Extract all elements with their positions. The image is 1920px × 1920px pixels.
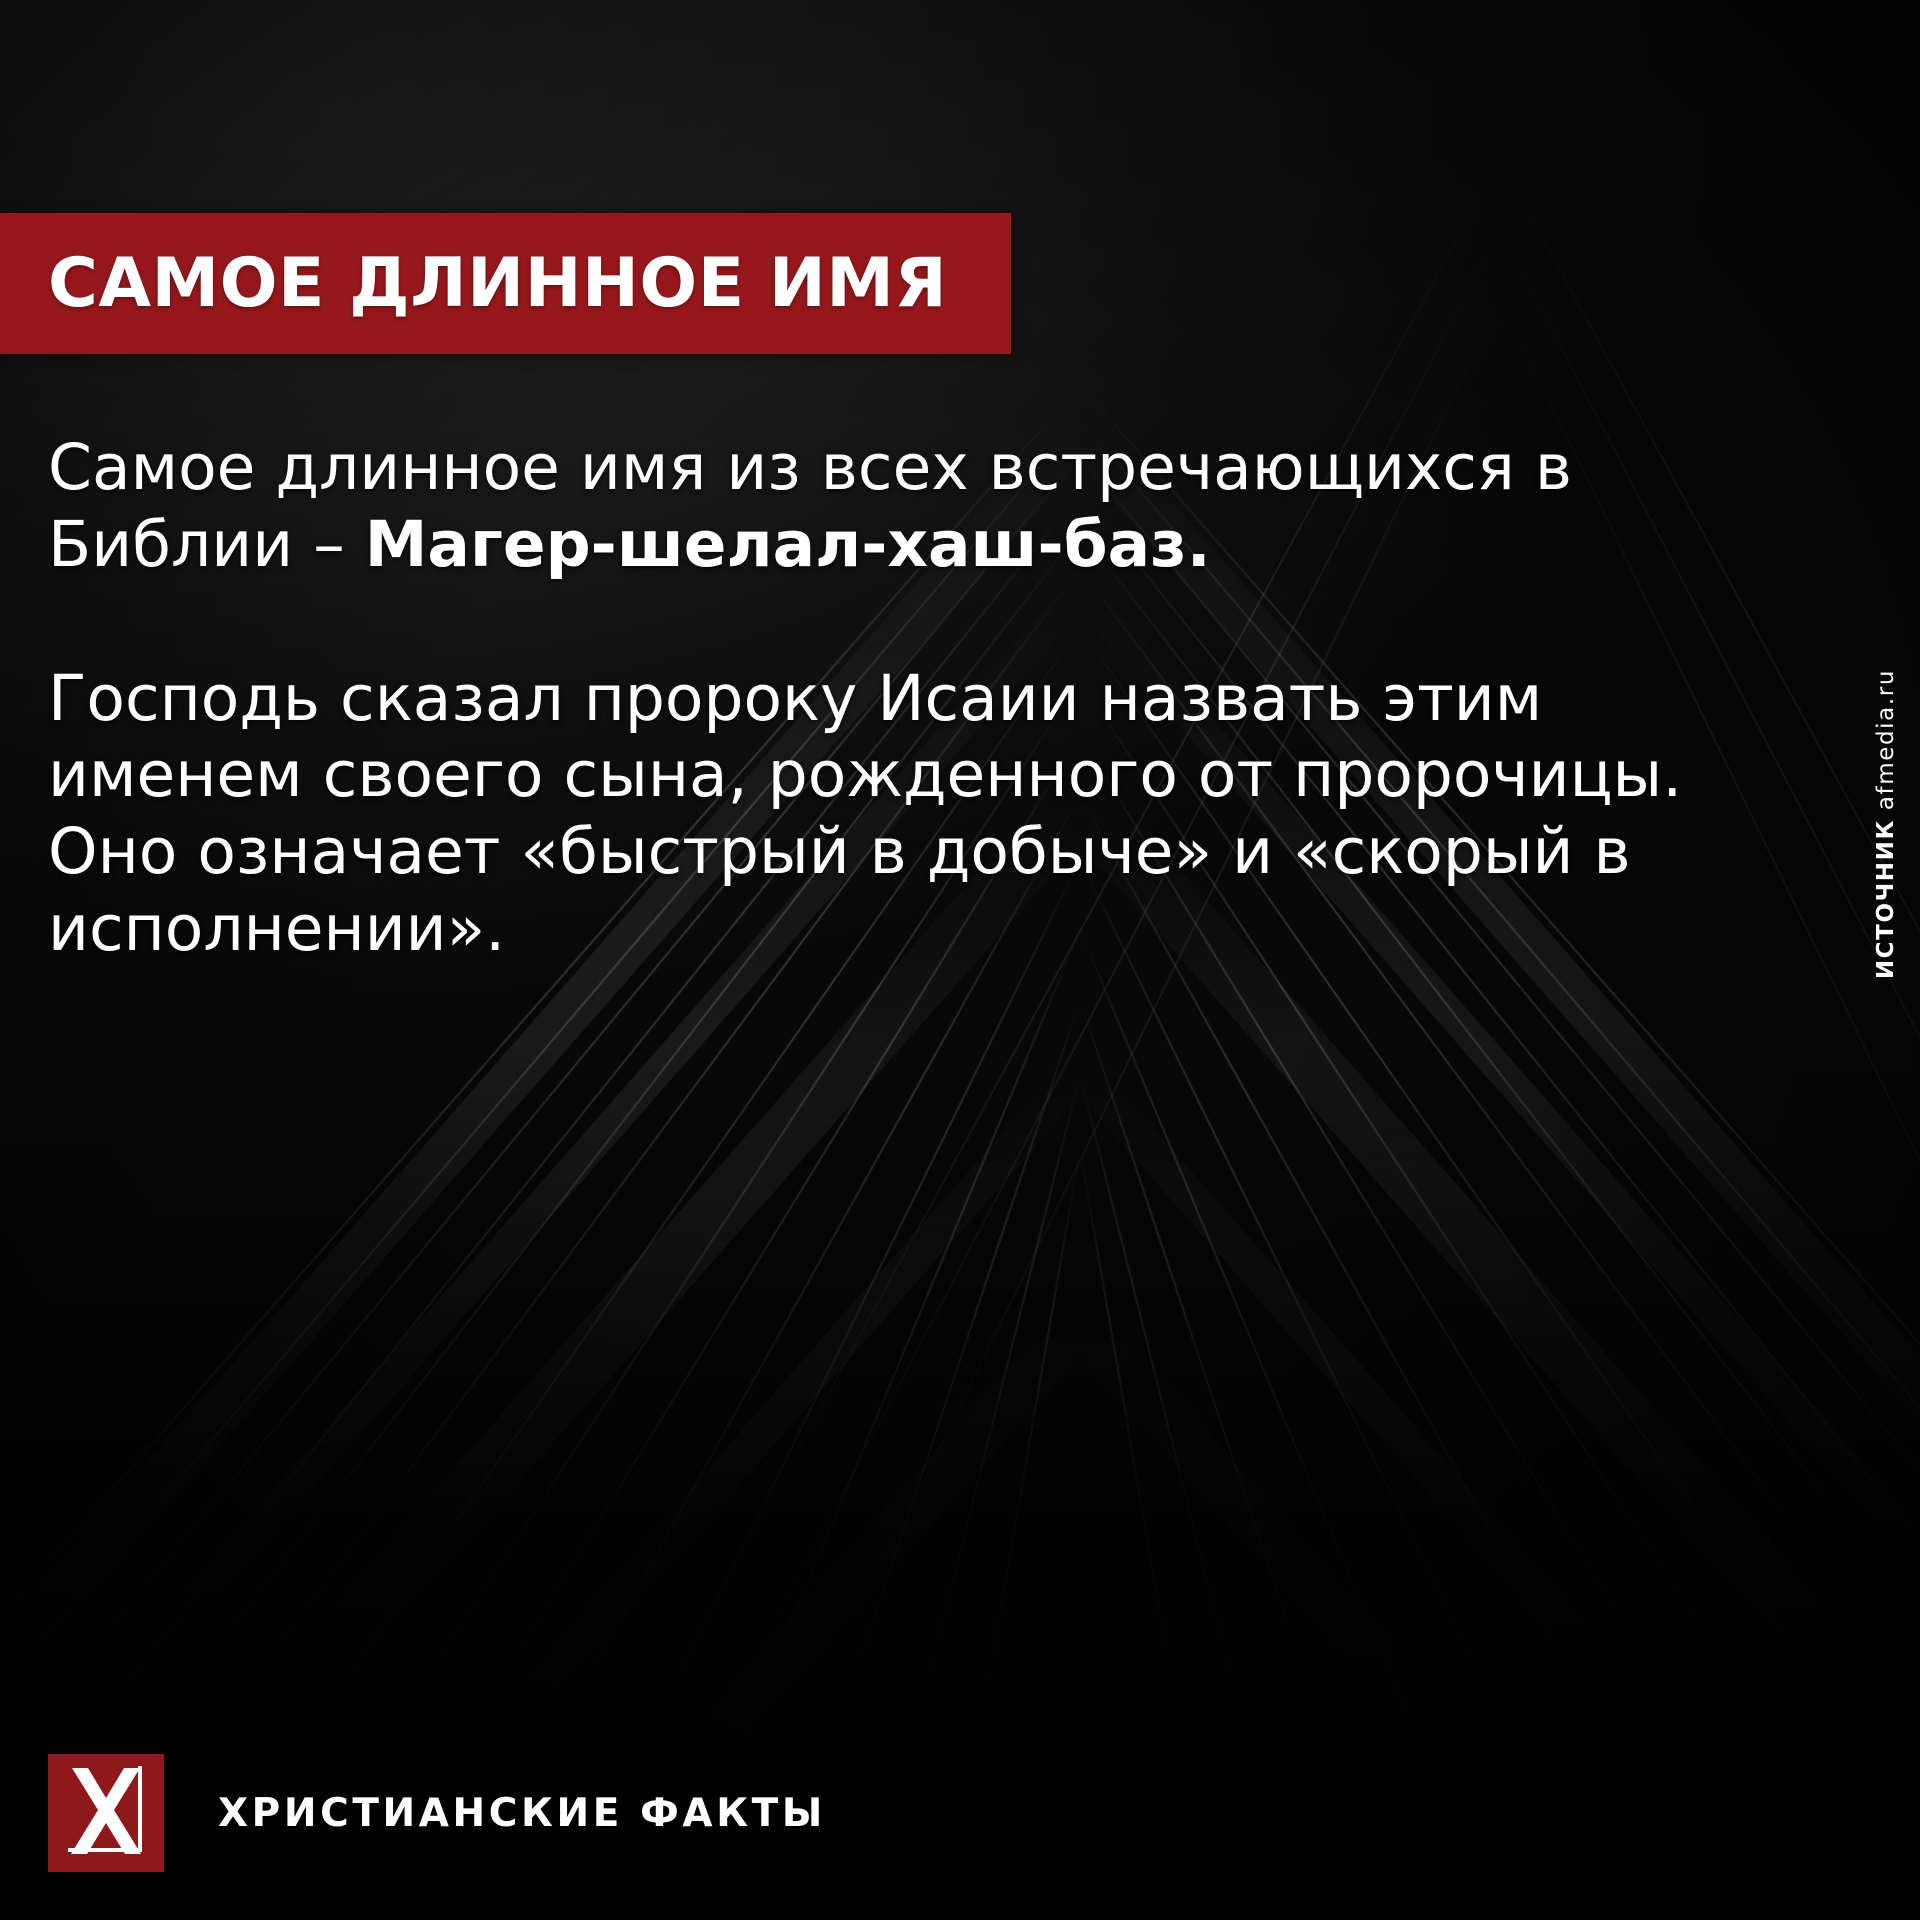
source-value: afmedia.ru	[1873, 669, 1899, 810]
longest-name-highlight: Магер-шелал-хаш-баз.	[365, 508, 1211, 581]
footer-brand: ХРИСТИАНСКИЕ ФАКТЫ	[48, 1754, 826, 1872]
fact-body: Самое длинное имя из всех встречающихся …	[48, 430, 1688, 968]
brand-title: ХРИСТИАНСКИЕ ФАКТЫ	[218, 1794, 826, 1833]
source-label: ИСТОЧНИК	[1873, 819, 1899, 979]
x-book-icon	[48, 1754, 164, 1872]
title-banner: САМОЕ ДЛИННОЕ ИМЯ	[0, 213, 1011, 354]
paragraph-1: Самое длинное имя из всех встречающихся …	[48, 430, 1688, 584]
infographic-card: САМОЕ ДЛИННОЕ ИМЯ Самое длинное имя из в…	[0, 0, 1920, 1920]
brand-logo-icon	[48, 1754, 164, 1872]
page-title: САМОЕ ДЛИННОЕ ИМЯ	[48, 250, 947, 318]
source-credit: ИСТОЧНИК afmedia.ru	[1875, 660, 1898, 979]
paragraph-2: Господь сказал пророку Исаии назвать эти…	[48, 661, 1688, 968]
